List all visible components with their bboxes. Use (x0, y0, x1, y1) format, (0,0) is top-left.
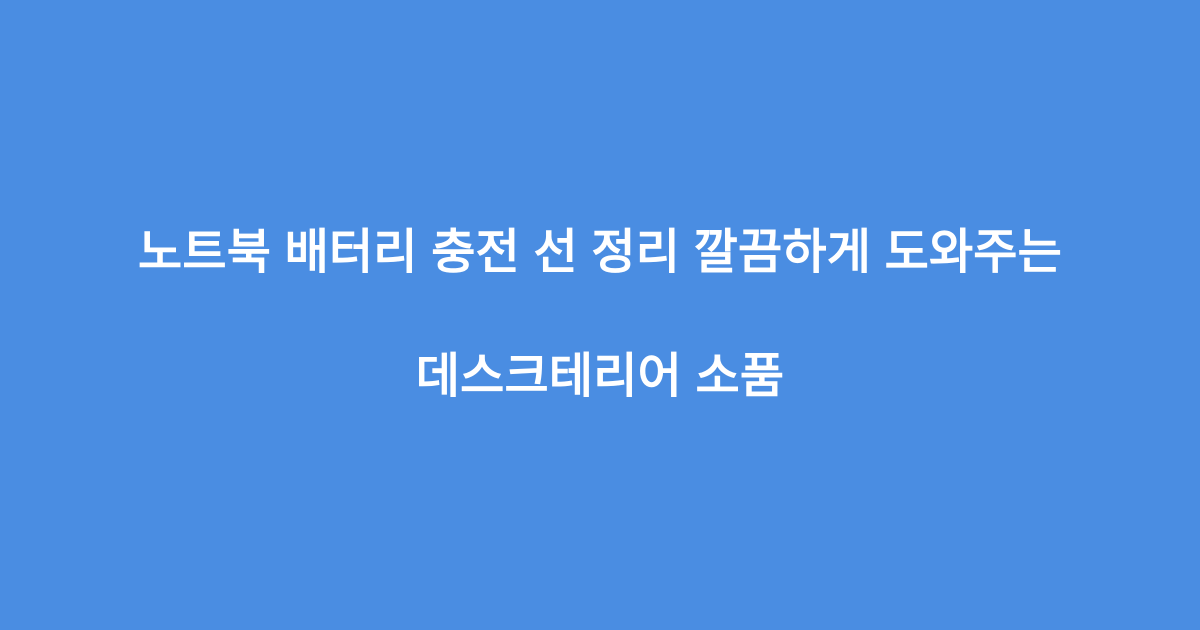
headline-block: 노트북 배터리 충전 선 정리 깔끔하게 도와주는 데스크테리어 소품 (50, 160, 1150, 470)
headline-line-1: 노트북 배터리 충전 선 정리 깔끔하게 도와주는 (90, 222, 1110, 284)
page-title: 노트북 배터리 충전 선 정리 깔끔하게 도와주는 데스크테리어 소품 (90, 160, 1110, 470)
headline-line-2: 데스크테리어 소품 (90, 346, 1110, 408)
social-share-card: 노트북 배터리 충전 선 정리 깔끔하게 도와주는 데스크테리어 소품 (0, 0, 1200, 630)
